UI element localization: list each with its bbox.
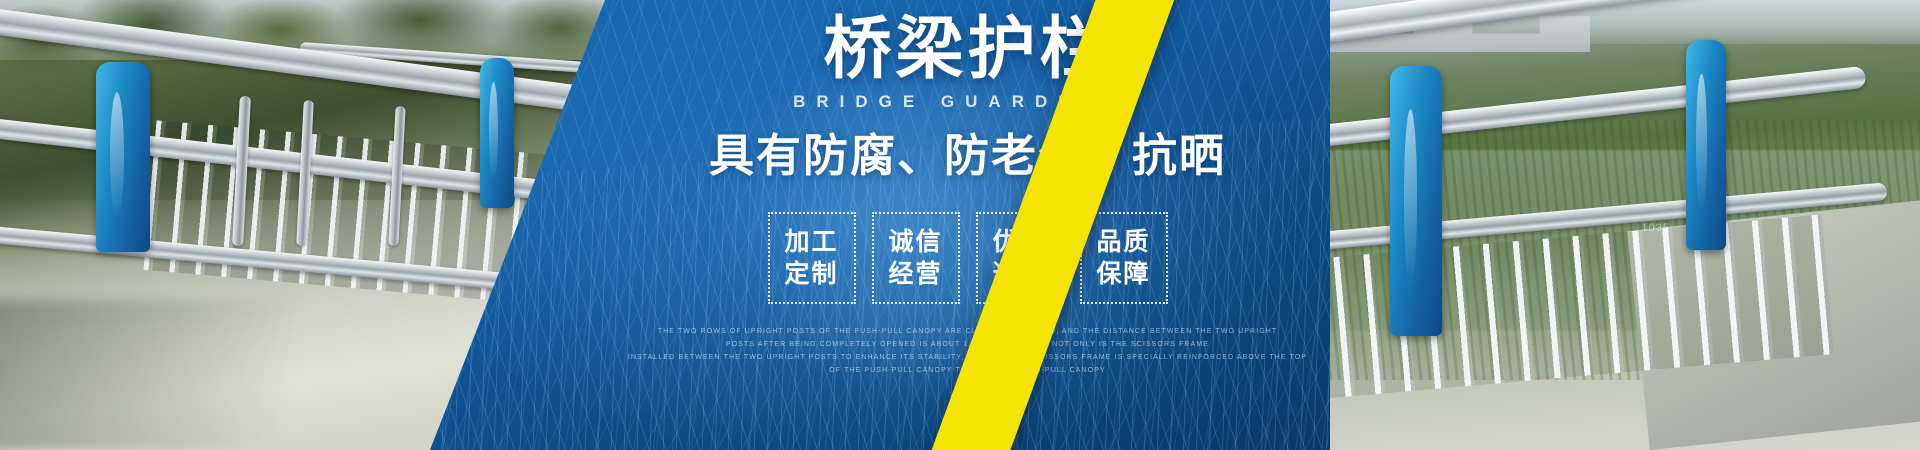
right-photo-bracket-1	[1390, 66, 1442, 336]
fine-print-line: THE TWO ROWS OF UPRIGHT POSTS OF THE PUS…	[625, 325, 1310, 338]
feature-badge-list: 加工 定制 诚信 经营 优质 选材 品质 保障	[605, 212, 1330, 304]
left-photo-shadow	[0, 300, 500, 450]
right-photo-bracket-2	[1686, 40, 1726, 250]
page-slogan: 具有防腐、防老化、抗晒	[605, 128, 1330, 184]
feature-badge-line1: 诚信	[888, 226, 942, 258]
feature-badge-line2: 经营	[888, 258, 942, 290]
image-watermark: 1035	[1642, 222, 1670, 234]
feature-badge-line2: 定制	[784, 258, 838, 290]
page-title: 桥梁护栏	[605, 10, 1330, 88]
feature-badge: 诚信 经营	[872, 212, 960, 304]
page-subtitle: BRIDGE GUARDRAIL	[605, 92, 1330, 112]
bridge-guardrail-banner: 1035 桥梁护栏 BRIDGE GUARDRAIL 具有防腐、防老化、抗晒 加…	[0, 0, 1920, 450]
feature-badge: 加工 定制	[768, 212, 856, 304]
left-photo-bracket-near	[96, 62, 150, 252]
feature-badge-line2: 保障	[1096, 258, 1150, 290]
feature-badge-line1: 品质	[1096, 226, 1150, 258]
left-photo-bracket-far	[480, 58, 514, 208]
feature-badge-line1: 加工	[784, 226, 838, 258]
